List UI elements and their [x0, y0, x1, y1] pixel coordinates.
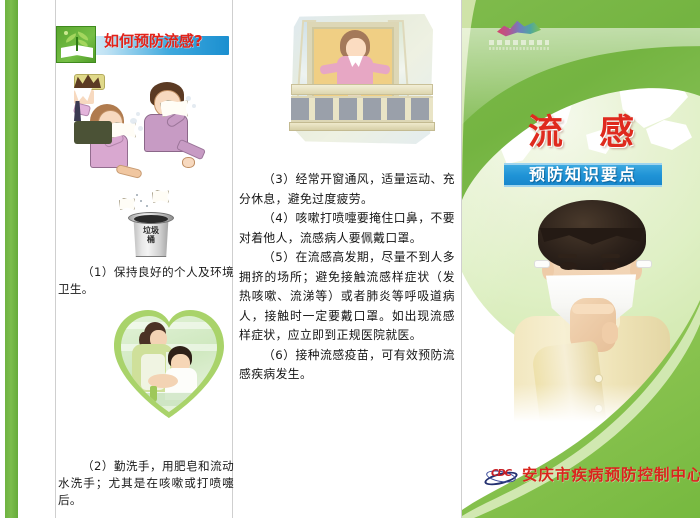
sneeze-puff — [186, 96, 191, 101]
arm — [115, 164, 142, 179]
caption-item-1: （1）保持良好的个人及环境卫生。 — [58, 264, 234, 298]
open-window-ventilation-illustration — [269, 6, 455, 158]
sneeze-puff — [138, 126, 143, 131]
motion-dot — [140, 200, 142, 202]
sneeze-puff — [136, 112, 140, 116]
hair-spike — [74, 74, 101, 88]
mask-strap — [636, 260, 652, 268]
cdc-logo-text: CDC — [491, 468, 511, 479]
window-sill — [291, 84, 433, 95]
shirt-button — [594, 374, 603, 383]
paragraph-4: （4）咳嗽打喷嚏要掩住口鼻，不要对着他人，流感病人要佩戴口罩。 — [239, 209, 455, 248]
caption-item-2: （2）勤洗手，用肥皂和流动水洗手；尤其是在咳嗽或打喷嚏后。 — [58, 458, 234, 509]
balcony-ledge — [289, 122, 435, 131]
panel-middle: （3）经常开窗通风，适量运动、充分休息，避免过度疲劳。 （4）咳嗽打喷嚏要掩住口… — [233, 0, 461, 518]
man-figure — [74, 74, 112, 144]
paragraph-5: （5）在流感高发期，尽量不到人多拥挤的场所；避免接触流感样症状（发热咳嗽、流涕等… — [239, 248, 455, 346]
bin-label: 垃圾桶 — [141, 227, 161, 253]
sneeze-into-tissue-illustration: 垃圾桶 — [74, 74, 234, 259]
cdc-logo: CDC — [484, 466, 518, 486]
discarded-tissue — [152, 190, 169, 203]
fingers — [572, 304, 614, 314]
eye — [560, 262, 577, 270]
health-china-logo — [489, 20, 549, 52]
paragraph-6: （6）接种流感疫苗，可有效预防流感疾病发生。 — [239, 346, 455, 385]
sink-basin — [124, 392, 216, 406]
collar — [74, 88, 92, 101]
thumb — [602, 322, 618, 344]
hand — [182, 157, 195, 168]
left-green-stripe — [5, 0, 18, 518]
eye — [602, 262, 619, 270]
mask-strap — [534, 260, 550, 268]
handwashing-heart-photo — [108, 300, 230, 422]
bird-icon — [497, 20, 541, 39]
bin-opening — [134, 215, 168, 223]
trash-bin: 垃圾桶 — [128, 210, 174, 257]
book-sprout-icon — [56, 26, 96, 63]
eyebrow — [558, 254, 577, 258]
eyebrow — [601, 254, 620, 258]
sprout-bud — [64, 31, 68, 35]
motion-dot — [146, 205, 148, 207]
panel-right-cover: 流 感 预防知识要点 — [462, 0, 700, 518]
page-title: 如何预防流感? — [104, 30, 203, 51]
sneeze-puff — [130, 118, 137, 124]
sprout-leaf — [78, 40, 88, 47]
logo-chinese-text — [489, 40, 549, 45]
discarded-tissue — [119, 198, 135, 210]
motion-dot — [136, 194, 138, 196]
body-text-block: （3）经常开窗通风，适量运动、充分休息，避免过度疲劳。 （4）咳嗽打喷嚏要掩住口… — [239, 170, 455, 385]
paragraph-3: （3）经常开窗通风，适量运动、充分休息，避免过度疲劳。 — [239, 170, 455, 209]
trousers — [74, 121, 112, 144]
logo-english-text — [489, 47, 549, 50]
cover-title: 流 感 — [462, 104, 700, 155]
panel-left: 如何预防流感? — [56, 0, 232, 518]
balcony-railing — [291, 96, 433, 122]
sneeze-puff — [192, 104, 196, 108]
necktie — [74, 101, 81, 121]
organization-name: 安庆市疾病预防控制中心 — [522, 463, 700, 485]
brochure-page: 如何预防流感? — [0, 0, 700, 518]
subtitle-banner-text: 预防知识要点 — [504, 163, 662, 187]
